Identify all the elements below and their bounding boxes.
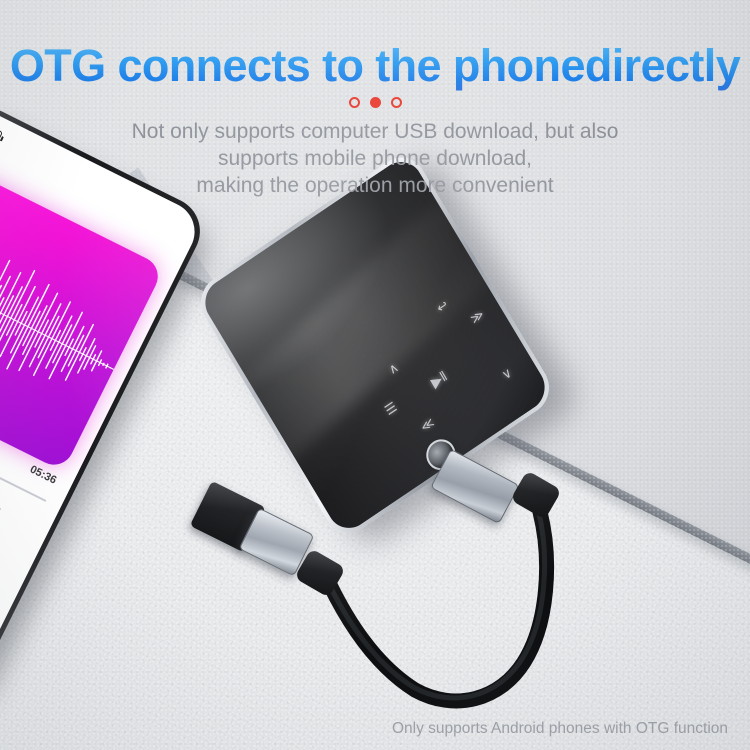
page-title: OTG connects to the phonedirectly [0, 40, 750, 92]
subtitle-block: Not only supports computer USB download,… [0, 118, 750, 199]
menu-key[interactable]: ☰ [383, 400, 399, 418]
play-pause-key[interactable]: ▶‖ [428, 368, 449, 389]
subtitle-line-3: making the operation more convenient [0, 172, 750, 199]
subtitle-line-2: supports mobile phone download, [0, 145, 750, 172]
product-marketing-image: ‹← [0, 0, 750, 750]
volume-down-key[interactable]: ∨ [499, 365, 514, 381]
back-key[interactable]: ↩ [434, 298, 450, 315]
footnote: Only supports Android phones with OTG fu… [392, 720, 728, 738]
dot-outline-right [391, 97, 402, 108]
duration-time: 05:36 [28, 463, 59, 486]
waveform-graphic [0, 209, 143, 428]
divider-dots [0, 97, 750, 108]
next-track-key[interactable]: ≫ [468, 307, 486, 326]
dot-outline-left [349, 97, 360, 108]
prev-track-key[interactable]: ≪ [418, 415, 436, 434]
dot-filled-center [370, 97, 381, 108]
subtitle-line-1: Not only supports computer USB download,… [0, 118, 750, 145]
volume-up-key[interactable]: ∧ [386, 360, 401, 376]
